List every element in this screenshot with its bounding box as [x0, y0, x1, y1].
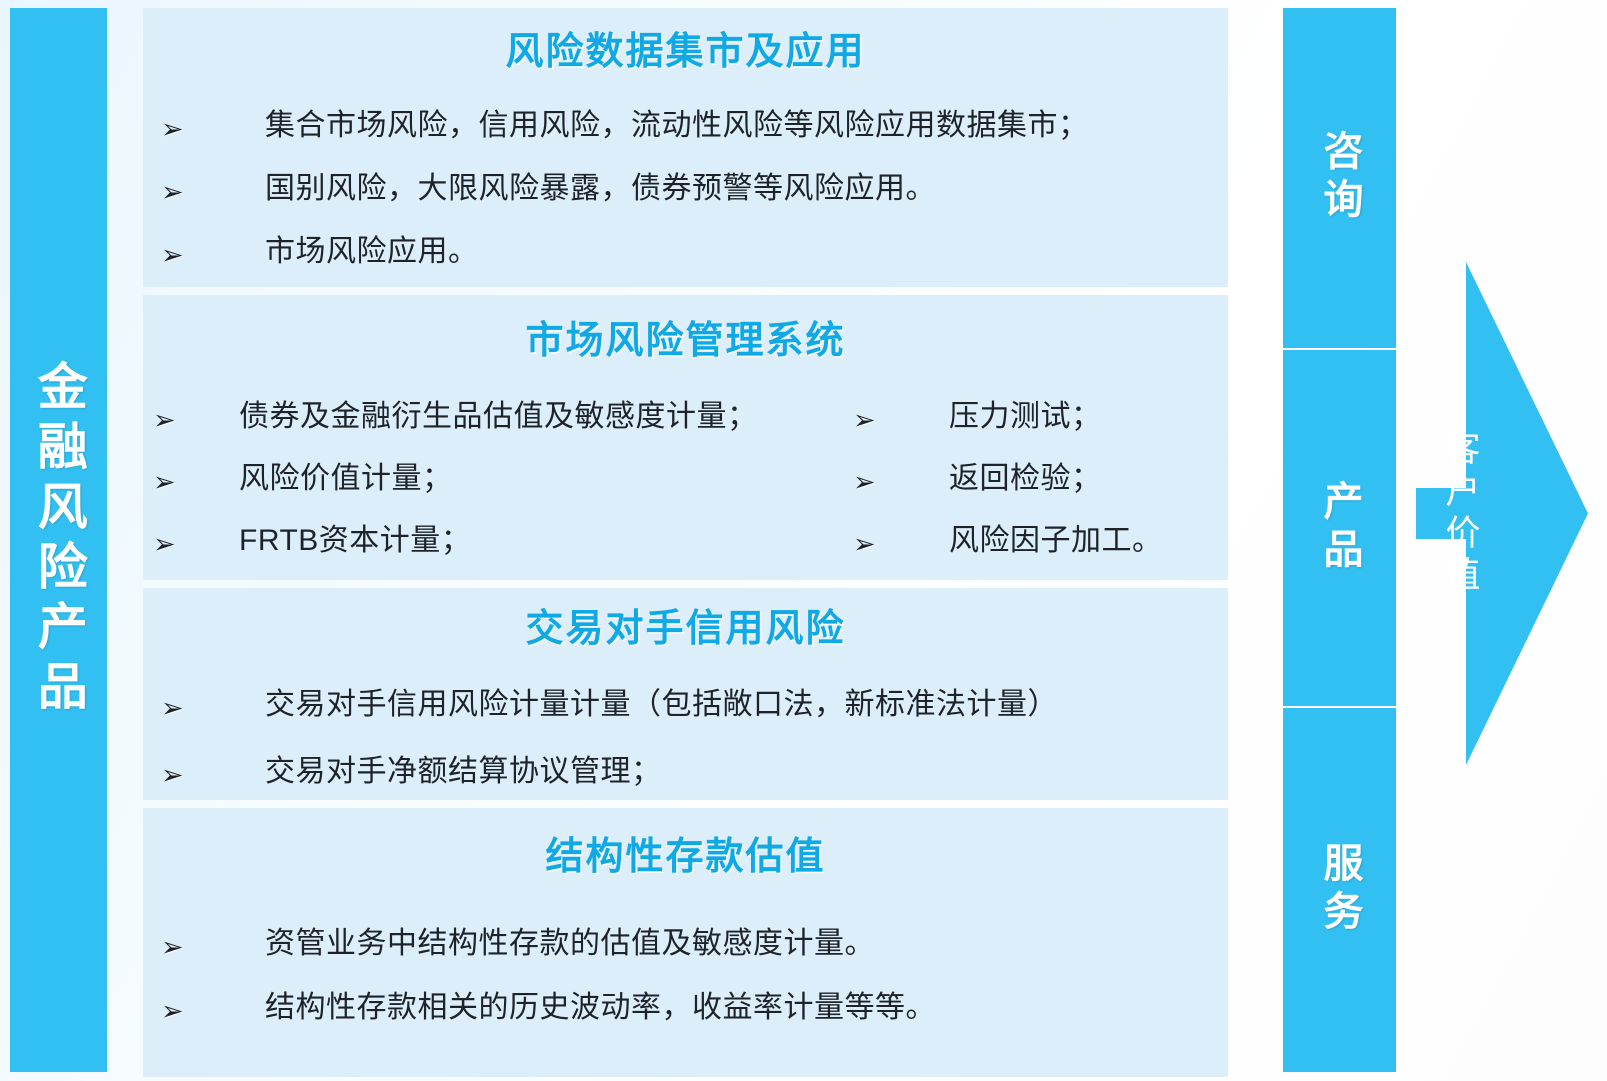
bullet-column-right: ➢ 风险因子加工。 [853, 526, 1163, 558]
bullet-column-left: ➢ FRTB资本计量； [153, 526, 853, 558]
list-item: ➢ 资管业务中结构性存款的估值及敏感度计量。 [161, 929, 1228, 961]
list-item-label: 风险因子加工。 [949, 526, 1163, 556]
list-item-label: 交易对手信用风险计量计量（包括敞口法，新标准法计量） [265, 690, 1058, 720]
stage-cell-product: 产品 [1283, 350, 1396, 706]
list-item-label: 集合市场风险，信用风险，流动性风险等风险应用数据集市； [265, 111, 1089, 141]
arrow-bullet-icon: ➢ [161, 929, 195, 961]
arrow-bullet-icon: ➢ [853, 526, 887, 558]
list-item-label: 资管业务中结构性存款的估值及敏感度计量。 [265, 929, 875, 959]
list-item: ➢ 国别风险，大限风险暴露，债券预警等风险应用。 [161, 174, 1228, 206]
panel-risk-data-mart: 风险数据集市及应用 ➢ 集合市场风险，信用风险，流动性风险等风险应用数据集市； … [143, 8, 1228, 287]
list-item-label: 市场风险应用。 [265, 237, 479, 267]
stage-cell-label: 咨询 [1319, 130, 1361, 226]
panel-structured-deposit-valuation: 结构性存款估值 ➢ 资管业务中结构性存款的估值及敏感度计量。 ➢ 结构性存款相关… [143, 808, 1228, 1077]
list-item: ➢ 风险价值计量； ➢ 返回检验； [153, 464, 1228, 496]
bullet-column-right: ➢ 压力测试； [853, 402, 1102, 434]
bullet-list: ➢ 集合市场风险，信用风险，流动性风险等风险应用数据集市； ➢ 国别风险，大限风… [143, 111, 1228, 269]
panel-title: 结构性存款估值 [143, 838, 1228, 876]
bullet-column-left: ➢ 风险价值计量； [153, 464, 853, 496]
list-item-label: 风险价值计量； [239, 464, 453, 494]
list-item-label: 债券及金融衍生品估值及敏感度计量； [239, 402, 758, 432]
bullet-list: ➢ 资管业务中结构性存款的估值及敏感度计量。 ➢ 结构性存款相关的历史波动率，收… [143, 929, 1228, 1025]
arrow-bullet-icon: ➢ [161, 690, 195, 722]
stage-cell-label: 产品 [1319, 480, 1361, 576]
list-item-label: 国别风险，大限风险暴露，债券预警等风险应用。 [265, 174, 936, 204]
panel-market-risk-system: 市场风险管理系统 ➢ 债券及金融衍生品估值及敏感度计量； ➢ 压力测试； ➢ 风… [143, 295, 1228, 580]
bullet-list: ➢ 交易对手信用风险计量计量（包括敞口法，新标准法计量） ➢ 交易对手净额结算协… [143, 690, 1228, 789]
list-item: ➢ 结构性存款相关的历史波动率，收益率计量等等。 [161, 993, 1228, 1025]
arrow-bullet-icon: ➢ [153, 526, 187, 558]
bullet-list: ➢ 债券及金融衍生品估值及敏感度计量； ➢ 压力测试； ➢ 风险价值计量； ➢ … [143, 402, 1228, 558]
list-item: ➢ 市场风险应用。 [161, 237, 1228, 269]
arrow-bullet-icon: ➢ [161, 237, 195, 269]
arrow-bullet-icon: ➢ [161, 757, 195, 789]
panel-stack: 风险数据集市及应用 ➢ 集合市场风险，信用风险，流动性风险等风险应用数据集市； … [143, 4, 1228, 1077]
list-item: ➢ FRTB资本计量； ➢ 风险因子加工。 [153, 526, 1228, 558]
arrow-bullet-icon: ➢ [853, 464, 887, 496]
arrow-bullet-icon: ➢ [161, 111, 195, 143]
list-item-label: 交易对手净额结算协议管理； [265, 757, 662, 787]
customer-value-arrow: 客户价值 [1408, 262, 1588, 765]
list-item: ➢ 交易对手净额结算协议管理； [161, 757, 1228, 789]
stage-cell-service: 服务 [1283, 708, 1396, 1072]
arrow-bullet-icon: ➢ [153, 402, 187, 434]
stage-cell-consulting: 咨询 [1283, 8, 1396, 348]
list-item-label: 压力测试； [949, 402, 1102, 432]
list-item: ➢ 债券及金融衍生品估值及敏感度计量； ➢ 压力测试； [153, 402, 1228, 434]
left-brand-bar-label: 金融风险产品 [32, 360, 85, 720]
arrow-bullet-icon: ➢ [153, 464, 187, 496]
panel-title: 风险数据集市及应用 [143, 33, 1228, 71]
panel-title: 市场风险管理系统 [143, 322, 1228, 360]
left-brand-bar: 金融风险产品 [10, 8, 107, 1072]
arrow-bullet-icon: ➢ [161, 993, 195, 1025]
arrow-bullet-icon: ➢ [161, 174, 195, 206]
list-item: ➢ 交易对手信用风险计量计量（包括敞口法，新标准法计量） [161, 690, 1228, 722]
arrow-bullet-icon: ➢ [853, 402, 887, 434]
list-item-label: 返回检验； [949, 464, 1102, 494]
panel-title: 交易对手信用风险 [143, 610, 1228, 648]
stage-column: 咨询 产品 服务 [1283, 8, 1396, 1072]
bullet-column-left: ➢ 债券及金融衍生品估值及敏感度计量； [153, 402, 853, 434]
bullet-column-right: ➢ 返回检验； [853, 464, 1102, 496]
stage-cell-label: 服务 [1319, 842, 1361, 938]
customer-value-arrow-label: 客户价值 [1416, 262, 1502, 765]
panel-counterparty-credit-risk: 交易对手信用风险 ➢ 交易对手信用风险计量计量（包括敞口法，新标准法计量） ➢ … [143, 588, 1228, 800]
list-item-label: 结构性存款相关的历史波动率，收益率计量等等。 [265, 993, 936, 1023]
list-item: ➢ 集合市场风险，信用风险，流动性风险等风险应用数据集市； [161, 111, 1228, 143]
list-item-label: FRTB资本计量； [239, 526, 471, 556]
